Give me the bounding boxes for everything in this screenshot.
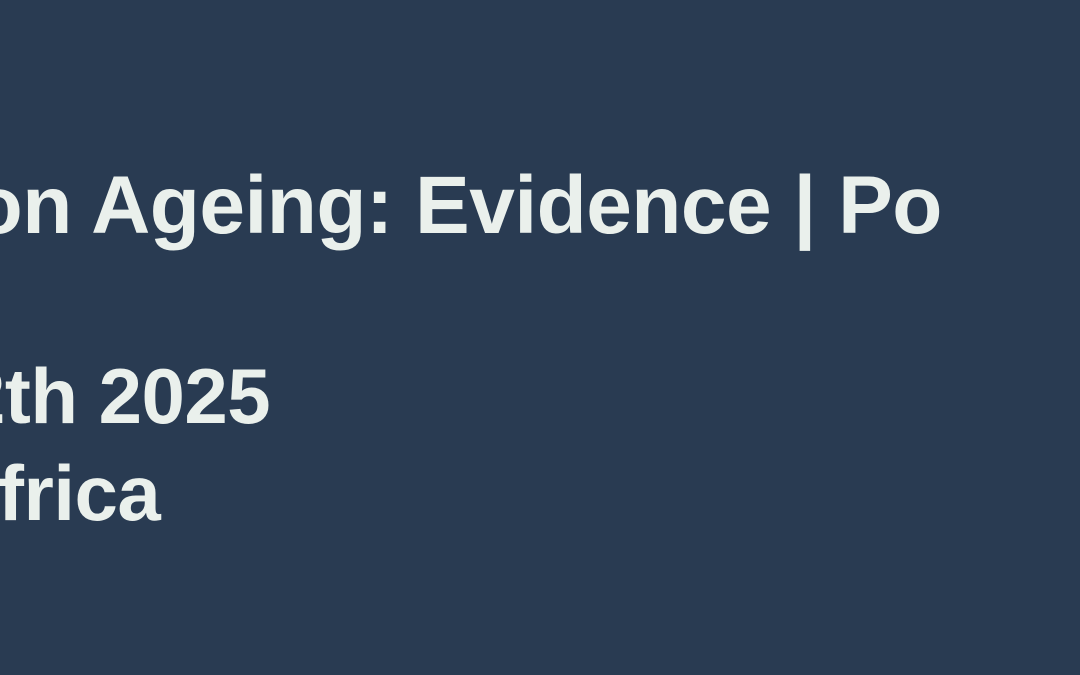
banner-text-block: ction on Ageing: Evidence | Po h to 12th… (0, 0, 1080, 675)
banner-date-line: h to 12th 2025 (0, 350, 270, 442)
banner-headline: ction on Ageing: Evidence | Po (0, 158, 942, 254)
conference-banner: ction on Ageing: Evidence | Po h to 12th… (0, 0, 1080, 675)
banner-venue-line: outh Africa (0, 447, 160, 539)
